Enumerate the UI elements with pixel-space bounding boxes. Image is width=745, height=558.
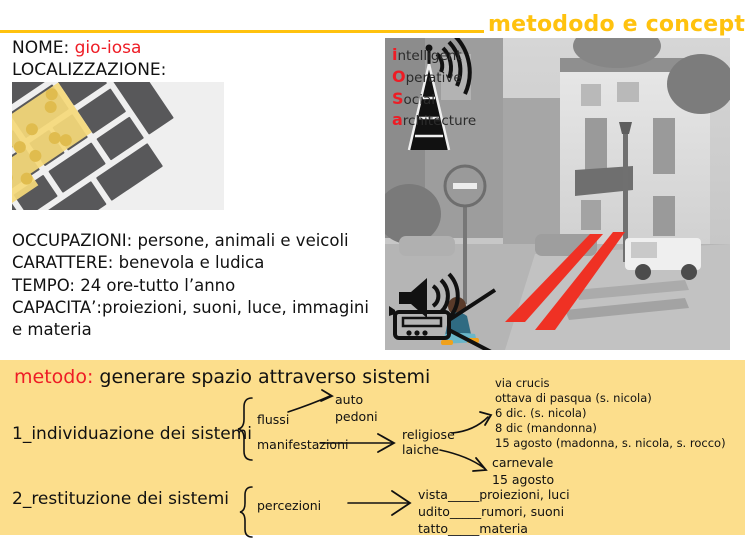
- acronym-cap-a: a: [392, 110, 403, 129]
- attr-tempo: TEMPO: 24 ore-tutto l’anno: [12, 275, 372, 297]
- percezioni-item-tatto: tatto_____materia: [418, 521, 570, 538]
- acronym-rest-2: perative: [406, 70, 462, 86]
- religiose-items: via crucis ottava di pasqua (s. nicola) …: [495, 376, 726, 451]
- localizzazione-label: LOCALIZZAZIONE:: [12, 60, 166, 80]
- flussi-targets: auto pedoni: [335, 392, 378, 426]
- branch-percezioni: percezioni: [257, 498, 321, 515]
- laiche-item-0: carnevale: [492, 455, 554, 472]
- slide-root: metododo e concept NOME: gio-iosa LOCALI…: [0, 0, 745, 558]
- acronym-line-1: intelligent: [392, 44, 476, 66]
- acronym-rest-4: rchitecture: [403, 113, 476, 129]
- nome-label: NOME:: [12, 38, 69, 58]
- nome-line: NOME: gio-iosa: [12, 38, 141, 58]
- branch-flussi: flussi: [257, 412, 289, 429]
- panel-title: metodo: generare spazio attraverso siste…: [14, 366, 430, 388]
- header-rule: [0, 30, 484, 33]
- religiose-item-3: 8 dic (mandonna): [495, 421, 726, 436]
- attr-carattere: CARATTERE: benevola e ludica: [12, 252, 372, 274]
- attributes-block: OCCUPAZIONI: persone, animali e veicoli …: [12, 230, 372, 341]
- attr-capacita: CAPACITA’:proiezioni, suoni, luce, immag…: [12, 297, 372, 319]
- urban-plan-svg: [12, 82, 224, 210]
- percezioni-item-vista: vista_____proiezioni, luci: [418, 487, 570, 504]
- acronym-rest-1: ntelligent: [397, 48, 461, 64]
- step-1-label: 1_individuazione dei sistemi: [12, 424, 252, 444]
- nome-value: gio-iosa: [75, 38, 142, 58]
- panel-title-text: generare spazio attraverso sistemi: [99, 366, 430, 388]
- acronym-line-3: Social: [392, 88, 476, 110]
- acronym-cap-s: S: [392, 89, 404, 108]
- manifestazioni-target-laiche: laiche: [402, 442, 439, 459]
- step-2-label: 2_restituzione dei sistemi: [12, 489, 229, 509]
- flussi-target-auto: auto: [335, 392, 378, 409]
- religiose-item-1: ottava di pasqua (s. nicola): [495, 391, 726, 406]
- acronym-line-2: Operative: [392, 66, 476, 88]
- iosa-acronym: intelligent Operative Social architectur…: [392, 44, 476, 131]
- percezioni-item-udito: udito_____rumori, suoni: [418, 504, 570, 521]
- religiose-item-2: 6 dic. (s. nicola): [495, 406, 726, 421]
- branch-manifestazioni: manifestazioni: [257, 437, 348, 454]
- percezioni-items: vista_____proiezioni, luci udito_____rum…: [418, 487, 570, 538]
- attr-occupazioni: OCCUPAZIONI: persone, animali e veicoli: [12, 230, 372, 252]
- religiose-item-4: 15 agosto (madonna, s. nicola, s. rocco): [495, 436, 726, 451]
- attr-capacita-cont: e materia: [12, 319, 372, 341]
- urban-plan-map: [12, 82, 224, 210]
- acronym-cap-o: O: [392, 67, 406, 86]
- page-title: metododo e concept: [488, 12, 745, 37]
- acronym-line-4: architecture: [392, 109, 476, 131]
- panel-title-prefix: metodo:: [14, 366, 93, 388]
- acronym-rest-3: ocial: [404, 92, 435, 108]
- flussi-target-pedoni: pedoni: [335, 409, 378, 426]
- laiche-items: carnevale 15 agosto: [492, 455, 554, 489]
- religiose-item-0: via crucis: [495, 376, 726, 391]
